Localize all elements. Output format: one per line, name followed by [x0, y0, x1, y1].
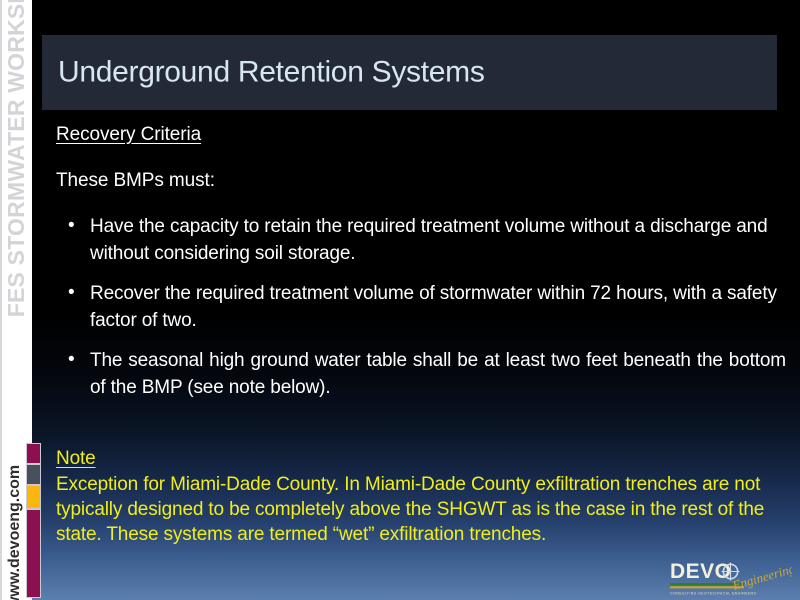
- logo-artwork: DEVO CONSULTING GEOTECHNICAL ENGINEERS E…: [668, 556, 792, 598]
- sidebar-website-url: www.devoeng.com: [0, 446, 29, 600]
- left-sidebar: FES STORMWATER WORKSHOP 2010 www.devoeng…: [0, 0, 42, 600]
- note-heading: Note: [56, 446, 96, 471]
- svg-text:CONSULTING GEOTECHNICAL ENGINE: CONSULTING GEOTECHNICAL ENGINEERS: [670, 592, 756, 596]
- slide-canvas: FES STORMWATER WORKSHOP 2010 www.devoeng…: [0, 0, 800, 600]
- section-heading-recovery-criteria: Recovery Criteria: [56, 124, 786, 146]
- list-item: The seasonal high ground water table sha…: [56, 348, 786, 402]
- bullet-text-2: Recover the required treatment volume of…: [90, 283, 777, 331]
- page-title: Underground Retention Systems: [58, 55, 485, 89]
- slide-title-bar: Underground Retention Systems: [42, 35, 777, 110]
- bullet-text-1: Have the capacity to retain the required…: [90, 216, 768, 264]
- list-item: Recover the required treatment volume of…: [56, 281, 786, 335]
- sidebar-maroon-block-top: [26, 443, 41, 464]
- note-block: Note Exception for Miami-Dade County. In…: [56, 446, 786, 547]
- sidebar-maroon-bar: [26, 509, 41, 598]
- sidebar-event-title: FES STORMWATER WORKSHOP 2010: [1, 0, 31, 471]
- devo-engineering-logo: DEVO CONSULTING GEOTECHNICAL ENGINEERS E…: [668, 556, 792, 598]
- requirements-list: Have the capacity to retain the required…: [56, 214, 786, 402]
- sidebar-amber-block: [26, 485, 41, 509]
- list-item: Have the capacity to retain the required…: [56, 214, 786, 268]
- bullet-text-3: The seasonal high ground water table sha…: [90, 350, 786, 398]
- intro-text: These BMPs must:: [56, 170, 786, 192]
- svg-text:Engineering: Engineering: [730, 561, 792, 594]
- slide-body: Recovery Criteria These BMPs must: Have …: [56, 124, 786, 415]
- note-body-text: Exception for Miami-Dade County. In Miam…: [56, 472, 786, 547]
- sidebar-slate-block: [26, 464, 41, 485]
